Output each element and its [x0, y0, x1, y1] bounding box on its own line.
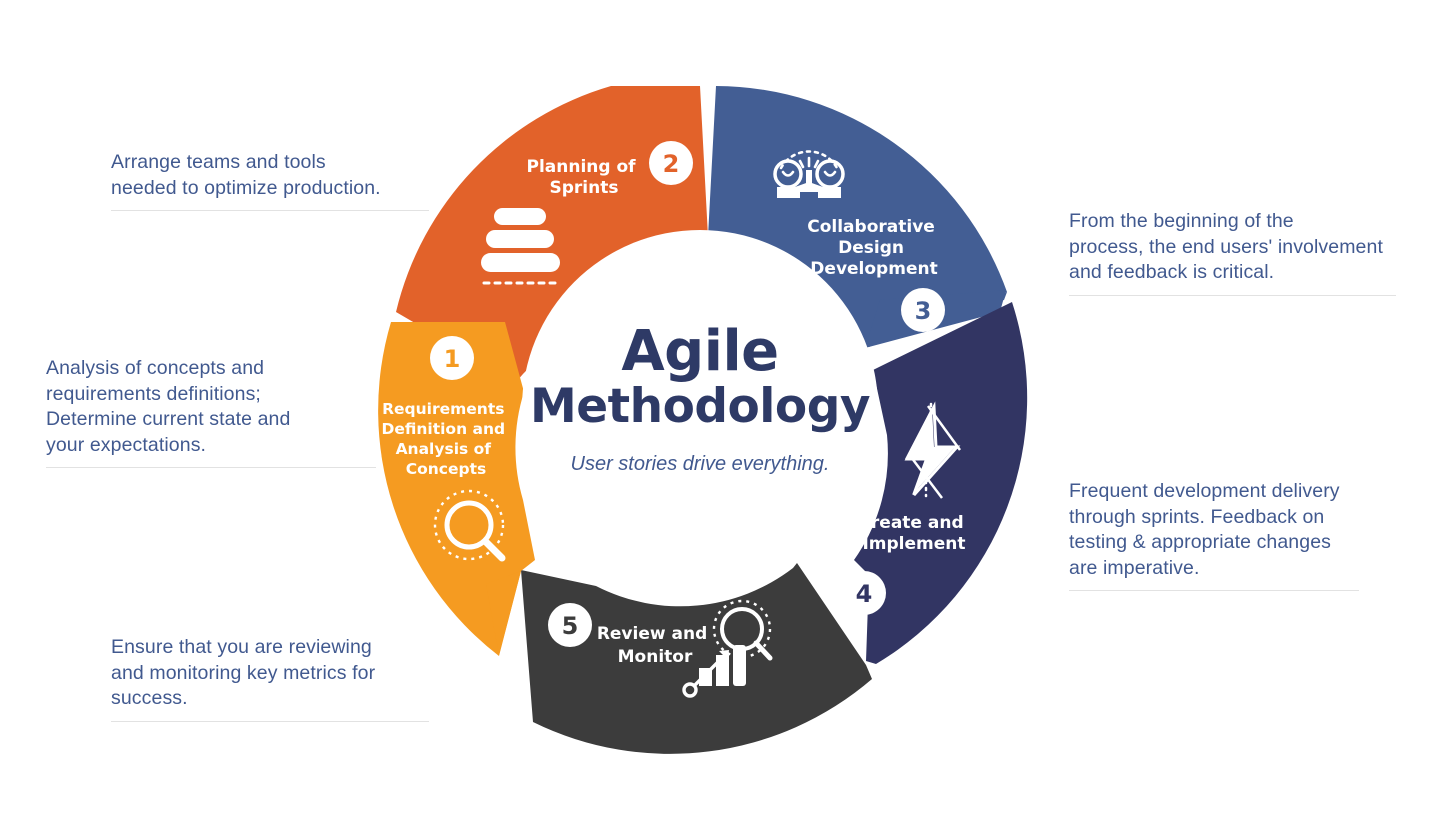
- agile-cycle-wheel: Planning of Sprints 2 Collaborative D: [0, 0, 1431, 820]
- segment-5-line-1: Review and: [597, 624, 707, 644]
- segment-3-number-badge: 3: [901, 288, 945, 332]
- segment-1-line-3: Analysis of: [396, 440, 492, 458]
- segment-5-number-badge: 5: [548, 603, 592, 647]
- segment-5-shape[interactable]: [521, 563, 872, 754]
- segment-4-line-2: Implement: [862, 534, 965, 554]
- segment-2-line-2: Sprints: [550, 178, 619, 198]
- segment-2-number: 2: [663, 150, 680, 178]
- segment-3-line-1: Collaborative: [807, 217, 935, 237]
- wheel-segment-1[interactable]: Requirements Definition and Analysis of …: [378, 322, 535, 656]
- segment-1-number: 1: [444, 345, 461, 373]
- segment-1-line-1: Requirements: [382, 400, 504, 418]
- segment-3-line-2: Design: [838, 238, 904, 258]
- segment-1-line-2: Definition and: [381, 420, 505, 438]
- segment-4-number: 4: [856, 580, 873, 608]
- segment-4-label: Create and Implement: [858, 513, 969, 554]
- segment-3-line-3: Development: [810, 259, 937, 279]
- segment-2-number-badge: 2: [649, 141, 693, 185]
- segment-4-shape[interactable]: [854, 302, 1027, 664]
- segment-1-number-badge: 1: [430, 336, 474, 380]
- segment-4-line-1: Create and: [858, 513, 963, 533]
- wheel-segment-5[interactable]: Review and Monitor 5: [521, 563, 872, 754]
- wheel-inner-hub: [522, 230, 878, 586]
- segment-5-line-2: Monitor: [618, 647, 693, 667]
- segment-4-number-badge: 4: [842, 571, 886, 615]
- segment-1-line-4: Concepts: [406, 460, 487, 478]
- segment-5-number: 5: [562, 612, 579, 640]
- segment-3-number: 3: [915, 297, 932, 325]
- infographic-canvas: Analysis of concepts and requirements de…: [0, 0, 1431, 820]
- segment-2-line-1: Planning of: [527, 157, 637, 177]
